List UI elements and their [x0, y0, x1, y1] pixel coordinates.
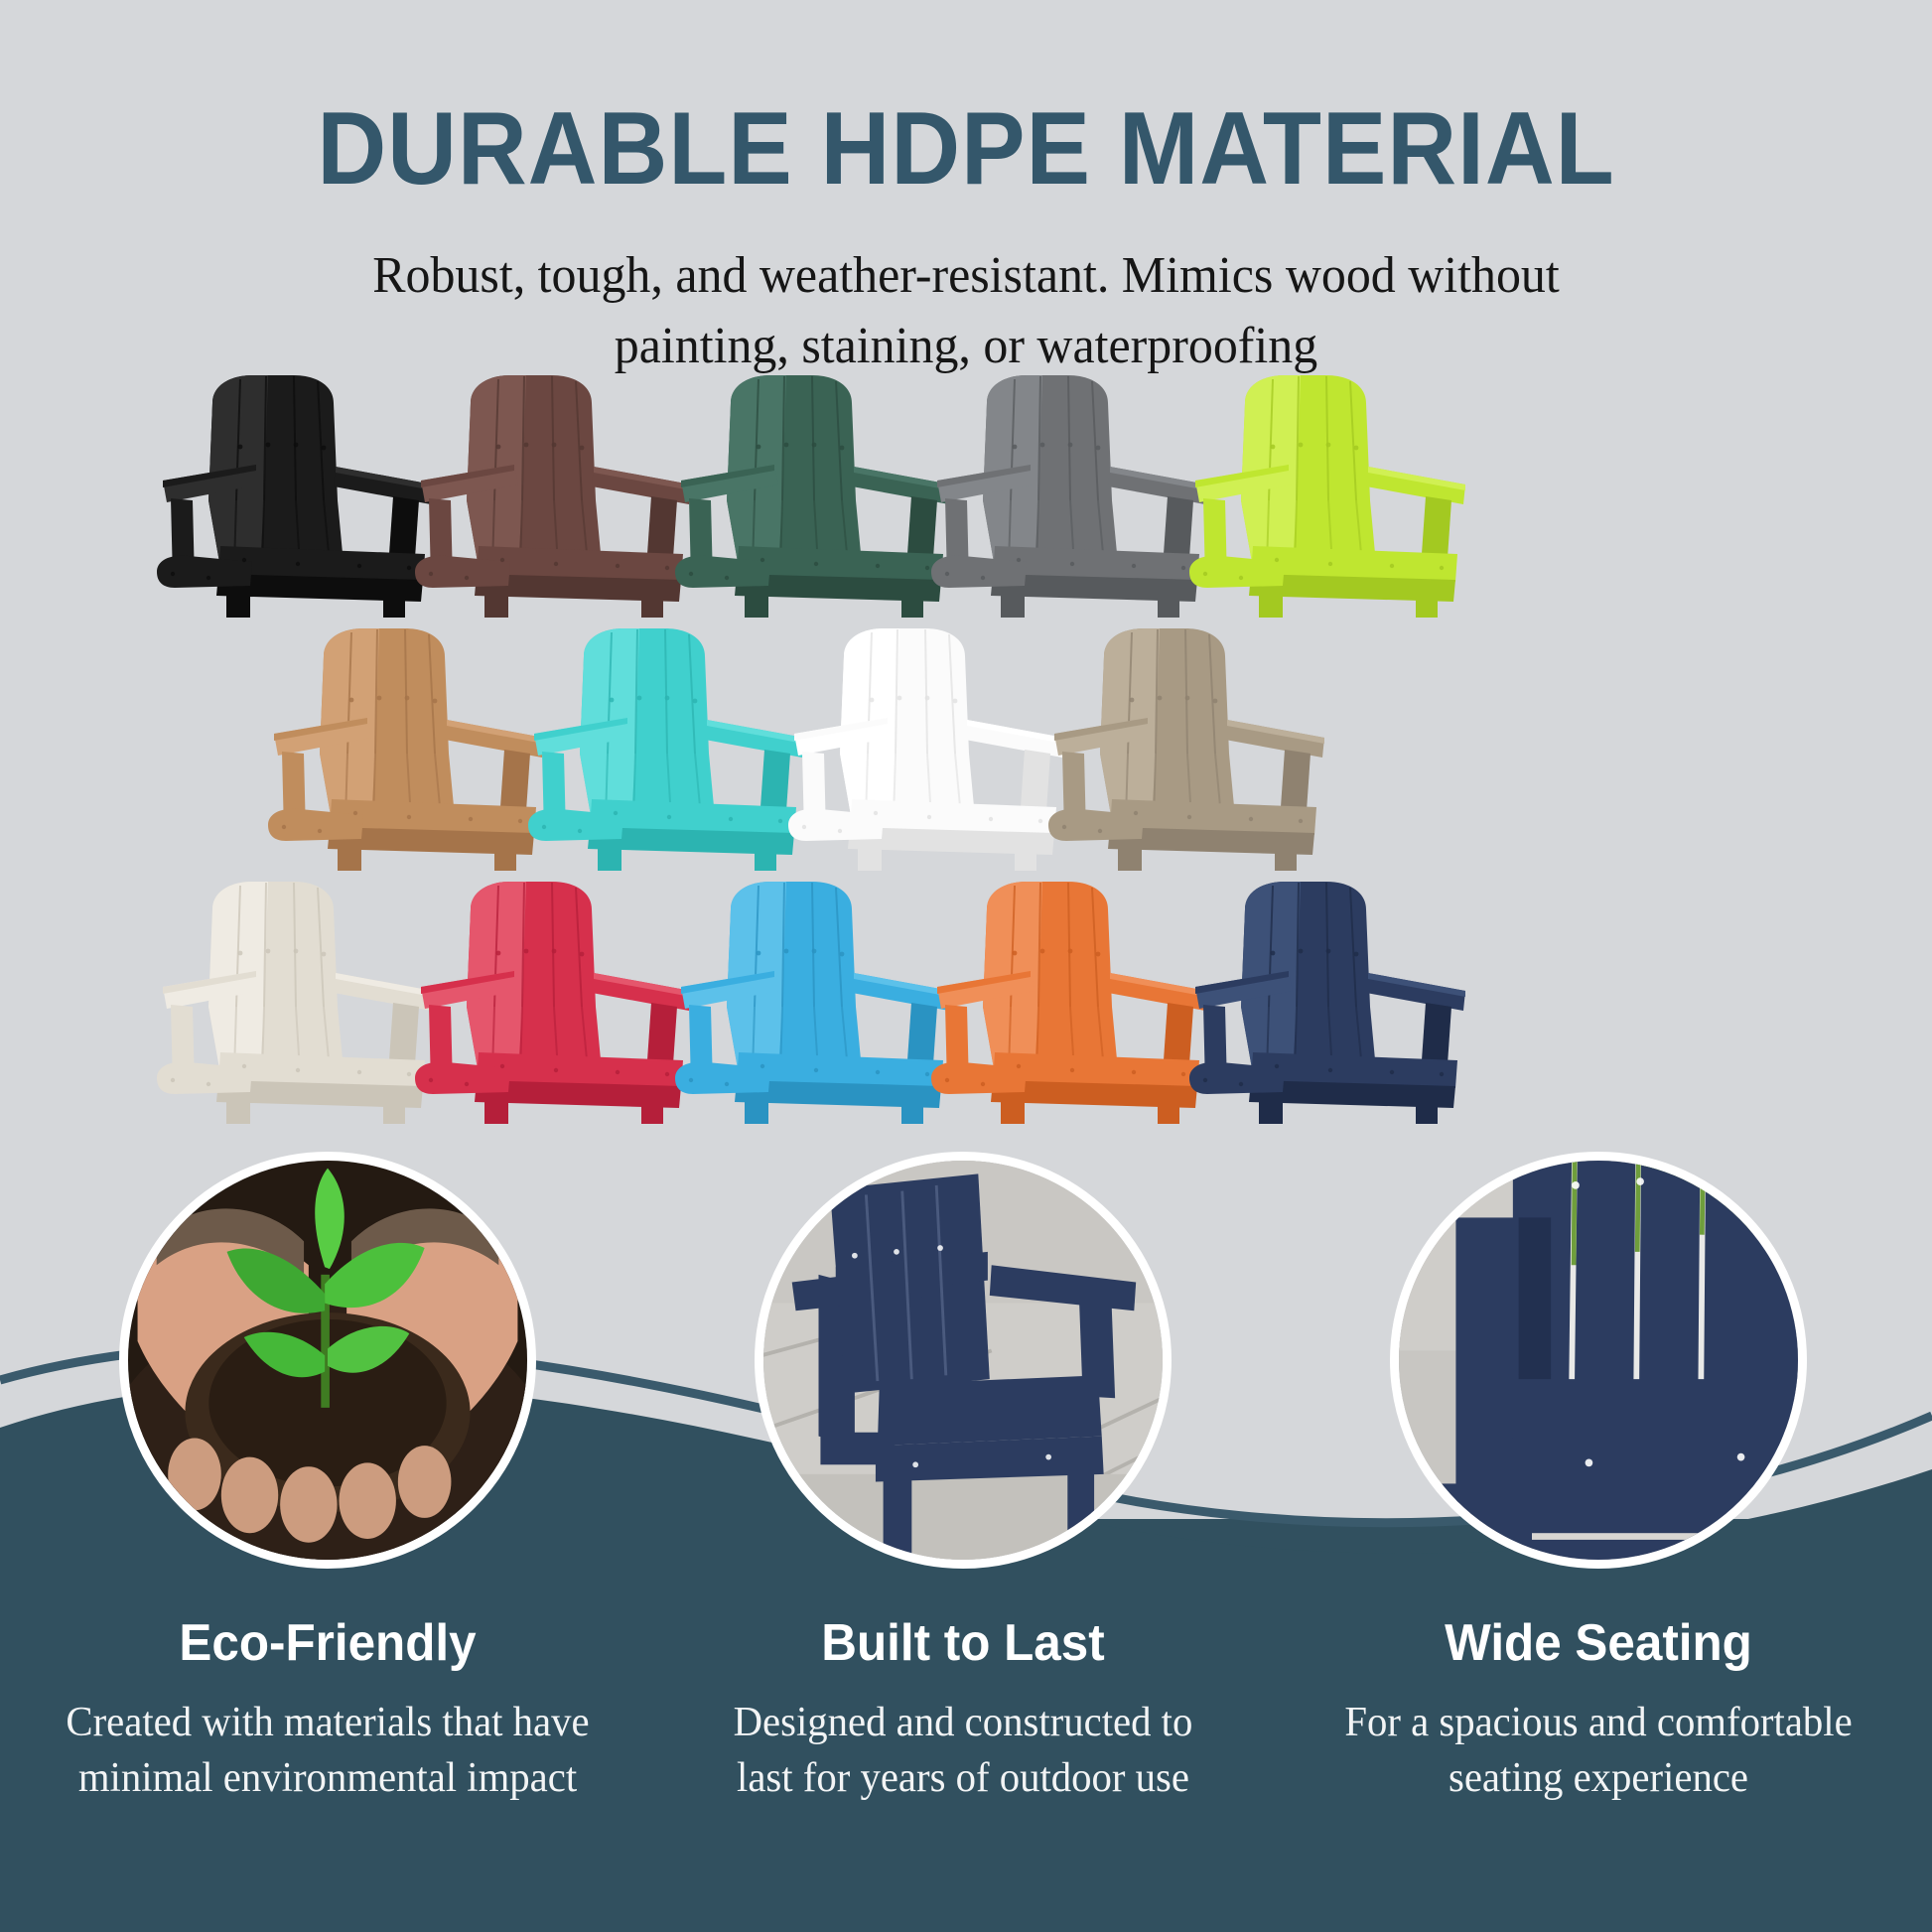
- chair-svg: [780, 622, 1078, 871]
- navy-wide-seat-closeup-icon: [1399, 1161, 1798, 1560]
- chair-swatch-white[interactable]: [780, 622, 1078, 871]
- feature-eco-friendly: Eco-Friendly Created with materials that…: [30, 1613, 625, 1807]
- feature-title-wide-seating: Wide Seating: [1315, 1613, 1881, 1673]
- chair-illustration: [667, 876, 965, 1124]
- navy-chair-patio-icon: [763, 1161, 1163, 1560]
- chair-svg: [1040, 622, 1338, 871]
- desc-line-1: Designed and constructed to: [734, 1700, 1193, 1745]
- feature-title-built-to-last: Built to Last: [680, 1613, 1246, 1673]
- chair-color-grid: [0, 369, 1932, 1129]
- chair-illustration: [667, 369, 965, 618]
- chair-swatch-lime-green[interactable]: [1181, 369, 1479, 618]
- feature-photos: [0, 1152, 1932, 1569]
- chair-illustration: [149, 369, 447, 618]
- desc-line-1: For a spacious and comfortable: [1344, 1700, 1852, 1745]
- chair-swatch-dark-green[interactable]: [667, 369, 965, 618]
- feature-desc-eco-friendly: Created with materials that have minimal…: [39, 1695, 617, 1807]
- desc-line-1: Created with materials that have: [66, 1700, 589, 1745]
- chair-row-1: [0, 369, 1932, 622]
- chair-row-3: [0, 876, 1932, 1129]
- chair-svg: [667, 876, 965, 1124]
- chair-illustration: [1181, 876, 1479, 1124]
- feature-photo-wide-seating: [1390, 1152, 1807, 1569]
- feature-title-eco-friendly: Eco-Friendly: [45, 1613, 611, 1673]
- feature-desc-built-to-last: Designed and constructed to last for yea…: [674, 1695, 1252, 1807]
- circle-frame: [119, 1152, 536, 1569]
- chair-svg: [407, 876, 705, 1124]
- desc-line-2: minimal environmental impact: [78, 1755, 577, 1801]
- chair-illustration: [407, 876, 705, 1124]
- chair-swatch-ivory[interactable]: [149, 876, 447, 1124]
- chair-illustration: [1040, 622, 1338, 871]
- feature-wide-seating: Wide Seating For a spacious and comforta…: [1301, 1613, 1896, 1807]
- chair-illustration: [149, 876, 447, 1124]
- chair-illustration: [260, 622, 558, 871]
- feature-photo-eco-friendly: [119, 1152, 536, 1569]
- circle-frame: [755, 1152, 1172, 1569]
- chair-svg: [923, 369, 1221, 618]
- subtitle-line-1: Robust, tough, and weather-resistant. Mi…: [39, 241, 1893, 312]
- feature-built-to-last: Built to Last Designed and constructed t…: [665, 1613, 1261, 1807]
- chair-illustration: [923, 369, 1221, 618]
- chair-svg: [923, 876, 1221, 1124]
- feature-desc-wide-seating: For a spacious and comfortable seating e…: [1310, 1695, 1887, 1807]
- desc-line-2: last for years of outdoor use: [737, 1755, 1189, 1801]
- chair-svg: [149, 876, 447, 1124]
- chair-svg: [1181, 369, 1479, 618]
- chair-svg: [520, 622, 818, 871]
- chair-swatch-navy-blue[interactable]: [1181, 876, 1479, 1124]
- chair-svg: [1181, 876, 1479, 1124]
- chair-swatch-taupe[interactable]: [1040, 622, 1338, 871]
- chair-swatch-gray[interactable]: [923, 369, 1221, 618]
- page-title: DURABLE HDPE MATERIAL: [68, 95, 1864, 204]
- page-subtitle: Robust, tough, and weather-resistant. Mi…: [39, 241, 1893, 381]
- chair-swatch-black[interactable]: [149, 369, 447, 618]
- chair-svg: [149, 369, 447, 618]
- circle-frame: [1390, 1152, 1807, 1569]
- header: DURABLE HDPE MATERIAL Robust, tough, and…: [0, 0, 1932, 382]
- desc-line-2: seating experience: [1449, 1755, 1748, 1801]
- chair-swatch-teak-tan[interactable]: [260, 622, 558, 871]
- feature-captions: Eco-Friendly Created with materials that…: [0, 1613, 1932, 1871]
- chair-svg: [260, 622, 558, 871]
- chair-swatch-sky-blue[interactable]: [667, 876, 965, 1124]
- chair-swatch-crimson-red[interactable]: [407, 876, 705, 1124]
- chair-illustration: [520, 622, 818, 871]
- hands-holding-seedling-icon: [128, 1161, 527, 1560]
- chair-illustration: [407, 369, 705, 618]
- chair-row-2: [0, 622, 1932, 876]
- chair-svg: [667, 369, 965, 618]
- chair-illustration: [780, 622, 1078, 871]
- chair-svg: [407, 369, 705, 618]
- feature-photo-built-to-last: [755, 1152, 1172, 1569]
- chair-swatch-orange[interactable]: [923, 876, 1221, 1124]
- chair-illustration: [1181, 369, 1479, 618]
- chair-illustration: [923, 876, 1221, 1124]
- infographic-canvas: DURABLE HDPE MATERIAL Robust, tough, and…: [0, 0, 1932, 1932]
- chair-swatch-turquoise[interactable]: [520, 622, 818, 871]
- chair-swatch-brown[interactable]: [407, 369, 705, 618]
